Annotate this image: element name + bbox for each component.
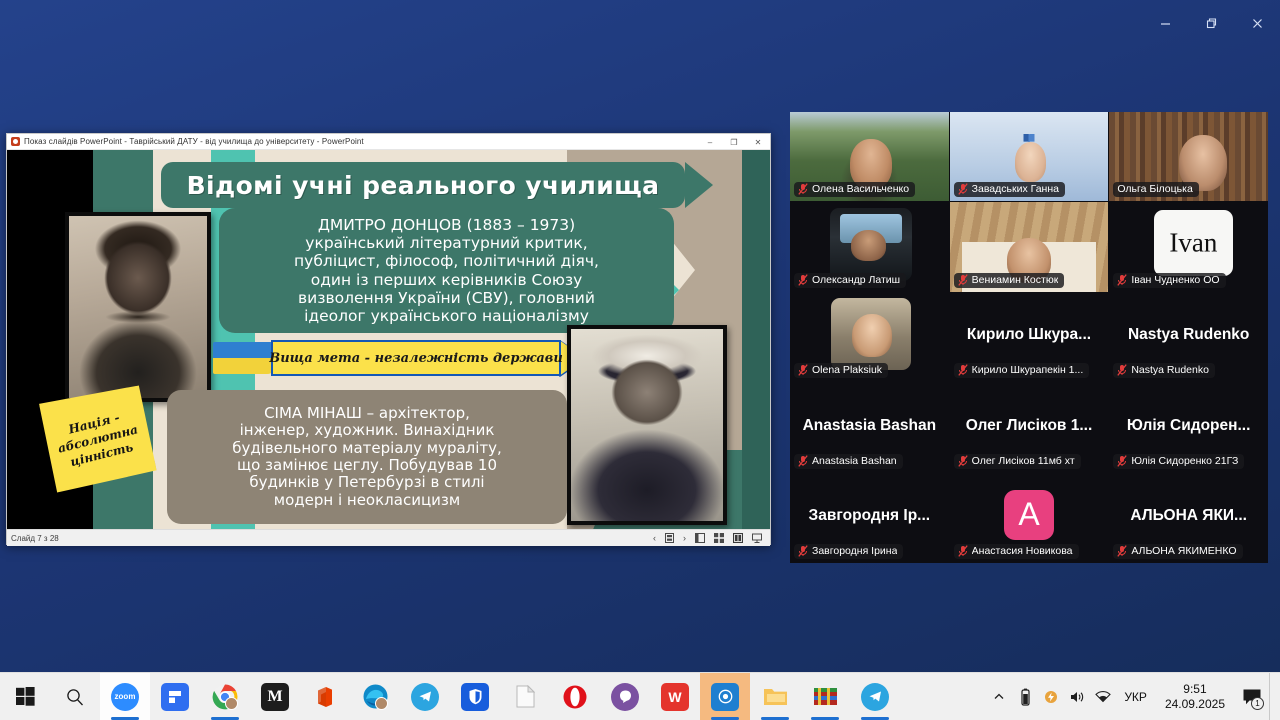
flipboard-app-button[interactable] xyxy=(150,673,200,720)
minash-text-box: СІМА МІНАШ – архітектор, інженер, художн… xyxy=(167,390,567,524)
document-icon xyxy=(511,683,539,711)
powerpoint-titlebar[interactable]: Показ слайдів PowerPoint - Таврійський Д… xyxy=(7,134,770,150)
person-silhouette xyxy=(1015,142,1047,181)
slide-bg-right-edge xyxy=(742,150,770,529)
clock[interactable]: 9:51 24.09.2025 xyxy=(1155,673,1235,720)
participant-tile[interactable]: Ivan Іван Чудненко ОО xyxy=(1109,202,1268,291)
powerpoint-status-bar: Слайд 7 з 28 ‹ › xyxy=(7,529,770,546)
participant-display-name: Юлія Сидорен... xyxy=(1109,417,1268,435)
folder-icon xyxy=(761,683,789,711)
participant-name-badge: Завадських Ганна xyxy=(954,182,1065,197)
chrome-app-button[interactable] xyxy=(200,673,250,720)
participant-tile[interactable]: Олег Лисіков 1... Олег Лисіков 11мб хт xyxy=(950,383,1109,472)
participant-tile[interactable]: Завадських Ганна xyxy=(950,112,1109,201)
mic-muted-icon xyxy=(798,364,808,376)
document-file-button[interactable] xyxy=(500,673,550,720)
avatar-word: Ivan xyxy=(1169,227,1217,258)
participant-name-badge: Олег Лисіков 11мб хт xyxy=(954,454,1081,469)
clock-time: 9:51 xyxy=(1183,682,1206,697)
slide-counter: Слайд 7 з 28 xyxy=(11,534,59,543)
participant-name-badge: Юлія Сидоренко 21ГЗ xyxy=(1113,454,1244,469)
mic-muted-icon xyxy=(958,183,968,195)
participant-display-name: Nastya Rudenko xyxy=(1109,327,1268,345)
participant-tile[interactable]: Olena Plaksiuk xyxy=(790,293,949,382)
winrar-app-button[interactable] xyxy=(800,673,850,720)
participant-display-name: Кирило Шкура... xyxy=(950,327,1109,345)
banner-body: Вища мета - незалежність держави xyxy=(271,340,561,376)
viber-icon xyxy=(611,683,639,711)
opera-icon xyxy=(561,683,589,711)
edge-icon xyxy=(361,683,389,711)
zoom-icon: zoom xyxy=(111,683,139,711)
participant-tile[interactable]: Кирило Шкура... Кирило Шкурапекін 1... xyxy=(950,293,1109,382)
mic-muted-icon xyxy=(958,364,968,376)
windows-taskbar: zoom M xyxy=(0,672,1280,720)
participant-tile[interactable]: Олена Васильченко xyxy=(790,112,949,201)
participant-tile[interactable]: АЛЬОНА ЯКИ... АЛЬОНА ЯКИМЕНКО xyxy=(1109,474,1268,563)
person-silhouette xyxy=(850,139,891,189)
mic-muted-icon xyxy=(798,545,808,557)
participant-name-badge: Іван Чудненко ОО xyxy=(1113,273,1225,288)
account-avatar xyxy=(375,697,388,710)
ppt-minimize-icon[interactable]: – xyxy=(698,134,722,150)
edge-app-button[interactable] xyxy=(350,673,400,720)
mic-muted-icon xyxy=(798,183,808,195)
presentation-icon xyxy=(711,683,739,711)
power-icon[interactable] xyxy=(1038,673,1064,720)
normal-view-button[interactable] xyxy=(695,533,705,543)
speaker-icon[interactable] xyxy=(1064,673,1090,720)
video-feed xyxy=(831,298,910,370)
participant-name: Олег Лисіков 11мб хт xyxy=(972,455,1075,467)
notifications-button[interactable]: 1 xyxy=(1235,673,1269,720)
wps-office-app-button[interactable]: W xyxy=(650,673,700,720)
mic-muted-icon xyxy=(958,545,968,557)
participant-name: Кирило Шкурапекін 1... xyxy=(972,364,1084,376)
participant-tile[interactable]: Вениамин Костюк xyxy=(950,202,1109,291)
slide-thumbnail-button[interactable] xyxy=(665,533,674,543)
participant-tile-active-speaker[interactable]: Ольга Білоцька xyxy=(1109,112,1268,201)
account-avatar xyxy=(225,697,238,710)
opera-app-button[interactable] xyxy=(550,673,600,720)
powerpoint-show-app-button[interactable] xyxy=(700,673,750,720)
start-button[interactable] xyxy=(0,673,50,720)
portrait-photo-right xyxy=(567,325,727,525)
windows-logo-icon xyxy=(16,687,35,706)
show-desktop-button[interactable] xyxy=(1269,673,1276,720)
participant-name: Іван Чудненко ОО xyxy=(1131,274,1219,286)
slide-show-view-button[interactable] xyxy=(752,533,762,543)
powerpoint-icon xyxy=(11,137,20,146)
participant-name-badge: Olena Plaksiuk xyxy=(794,363,888,378)
system-tray: УКР 9:51 24.09.2025 1 xyxy=(986,673,1280,720)
participant-tile[interactable]: Nastya Rudenko Nastya Rudenko xyxy=(1109,293,1268,382)
mic-muted-icon xyxy=(958,455,968,467)
slide-sorter-view-button[interactable] xyxy=(714,533,724,543)
telegram-desktop-app-button[interactable] xyxy=(850,673,900,720)
status-bar-controls: ‹ › xyxy=(653,533,766,543)
flipgrid-icon xyxy=(161,683,189,711)
viber-app-button[interactable] xyxy=(600,673,650,720)
ppt-close-icon[interactable]: ✕ xyxy=(746,134,770,150)
participant-grid: Олена Васильченко Завадських Ганна xyxy=(790,112,1268,563)
participant-name: Завгородня Ірина xyxy=(812,545,897,557)
notification-count-badge: 1 xyxy=(1251,697,1264,710)
telegram-icon xyxy=(861,683,889,711)
powerpoint-window-controls: – ❐ ✕ xyxy=(698,134,770,150)
participant-name: Завадських Ганна xyxy=(972,183,1059,195)
slide-canvas[interactable]: Відомі учні реального училища ДМИТРО ДОН… xyxy=(7,150,770,529)
participant-name-badge: Anastasia Bashan xyxy=(794,454,903,469)
motto-banner: Вища мета - незалежність держави xyxy=(213,340,593,376)
wps-icon: W xyxy=(661,683,689,711)
participant-display-name: Anastasia Bashan xyxy=(790,417,949,435)
participant-name-badge: Вениамин Костюк xyxy=(954,273,1065,288)
participant-name-badge: Ольга Білоцька xyxy=(1113,182,1198,197)
medium-app-button[interactable]: M xyxy=(250,673,300,720)
language-indicator[interactable]: УКР xyxy=(1116,673,1155,720)
office-icon xyxy=(311,683,339,711)
telegram-icon xyxy=(411,683,439,711)
desktop-screen: Олена Васильченко Завадських Ганна xyxy=(0,0,1280,720)
mic-muted-icon xyxy=(1117,455,1127,467)
participant-name: Olena Plaksiuk xyxy=(812,364,882,376)
participant-name: Вениамин Костюк xyxy=(972,274,1059,286)
participant-tile[interactable]: Олександр Латиш xyxy=(790,202,949,291)
mic-muted-icon xyxy=(958,274,968,286)
search-button[interactable] xyxy=(50,673,100,720)
participant-tile[interactable]: Anastasia Bashan Anastasia Bashan xyxy=(790,383,949,472)
file-explorer-app-button[interactable] xyxy=(750,673,800,720)
title-arrow-shape xyxy=(685,162,713,208)
portrait-image xyxy=(69,216,207,398)
office-app-button[interactable] xyxy=(300,673,350,720)
participant-name-badge: Кирило Шкурапекін 1... xyxy=(954,363,1090,378)
participant-name: Ольга Білоцька xyxy=(1117,183,1192,195)
powerpoint-title: Показ слайдів PowerPoint - Таврійський Д… xyxy=(24,137,364,146)
participant-name: Anastasia Bashan xyxy=(812,455,897,467)
participant-name: Nastya Rudenko xyxy=(1131,364,1209,376)
previous-slide-button[interactable]: ‹ xyxy=(653,534,656,543)
participant-display-name: Завгородня Ір... xyxy=(790,507,949,525)
ukraine-flag-icon xyxy=(213,342,277,374)
participant-name-badge: Nastya Rudenko xyxy=(1113,363,1215,378)
video-feed xyxy=(830,208,913,281)
hidden-icons-button[interactable] xyxy=(986,673,1012,720)
participant-tile[interactable]: А Анастасия Новикова xyxy=(950,474,1109,563)
participant-name-badge: АЛЬОНА ЯКИМЕНКО xyxy=(1113,544,1242,559)
participant-name: Олександр Латиш xyxy=(812,274,900,286)
shield-icon xyxy=(461,683,489,711)
bitwarden-app-button[interactable] xyxy=(450,673,500,720)
minash-text: СІМА МІНАШ – архітектор, інженер, художн… xyxy=(232,405,502,509)
mic-muted-icon xyxy=(1117,545,1127,557)
donets-text-box: ДМИТРО ДОНЦОВ (1883 – 1973) український … xyxy=(219,208,674,333)
slide-title: Відомі учні реального училища xyxy=(161,162,685,208)
reading-view-button[interactable] xyxy=(733,533,743,543)
battery-icon[interactable] xyxy=(1012,673,1038,720)
participant-tile[interactable]: Завгородня Ір... Завгородня Ірина xyxy=(790,474,949,563)
donets-text: ДМИТРО ДОНЦОВ (1883 – 1973) український … xyxy=(294,216,599,326)
participant-name: АЛЬОНА ЯКИМЕНКО xyxy=(1131,545,1236,557)
participant-name: Юлія Сидоренко 21ГЗ xyxy=(1131,455,1238,467)
zoom-app-button[interactable]: zoom xyxy=(100,673,150,720)
avatar: А xyxy=(1004,490,1054,540)
clock-date: 24.09.2025 xyxy=(1165,697,1225,712)
telegram-app-button[interactable] xyxy=(400,673,450,720)
powerpoint-window[interactable]: Показ слайдів PowerPoint - Таврійський Д… xyxy=(6,133,771,545)
mic-muted-icon xyxy=(1117,364,1127,376)
participant-tile[interactable]: Юлія Сидорен... Юлія Сидоренко 21ГЗ xyxy=(1109,383,1268,472)
mic-muted-icon xyxy=(798,274,808,286)
participant-name-badge: Анастасия Новикова xyxy=(954,544,1079,559)
participant-display-name: АЛЬОНА ЯКИ... xyxy=(1109,507,1268,525)
wifi-icon[interactable] xyxy=(1090,673,1116,720)
window-controls xyxy=(1100,0,1280,46)
chrome-icon xyxy=(211,683,239,711)
participant-name: Анастасия Новикова xyxy=(972,545,1073,557)
participant-name: Олена Васильченко xyxy=(812,183,909,195)
banner-label: Вища мета - незалежність держави xyxy=(269,351,563,366)
portrait-photo-left xyxy=(65,212,211,402)
avatar: Ivan xyxy=(1154,210,1233,276)
mic-muted-icon xyxy=(1117,274,1127,286)
mic-muted-icon xyxy=(798,455,808,467)
winrar-icon xyxy=(811,683,839,711)
search-icon xyxy=(65,687,85,707)
participant-name-badge: Завгородня Ірина xyxy=(794,544,903,559)
participant-name-badge: Олександр Латиш xyxy=(794,273,906,288)
participant-name-badge: Олена Васильченко xyxy=(794,182,915,197)
portrait-image xyxy=(571,329,723,521)
next-slide-button[interactable]: › xyxy=(683,534,686,543)
letter-m-icon: M xyxy=(261,683,289,711)
participant-display-name: Олег Лисіков 1... xyxy=(950,417,1109,435)
close-icon[interactable] xyxy=(1234,0,1280,46)
minimize-icon[interactable] xyxy=(1142,0,1188,46)
restore-icon[interactable] xyxy=(1188,0,1234,46)
ppt-restore-icon[interactable]: ❐ xyxy=(722,134,746,150)
sticky-note-text: Нація - абсолютна цінність xyxy=(52,406,143,473)
